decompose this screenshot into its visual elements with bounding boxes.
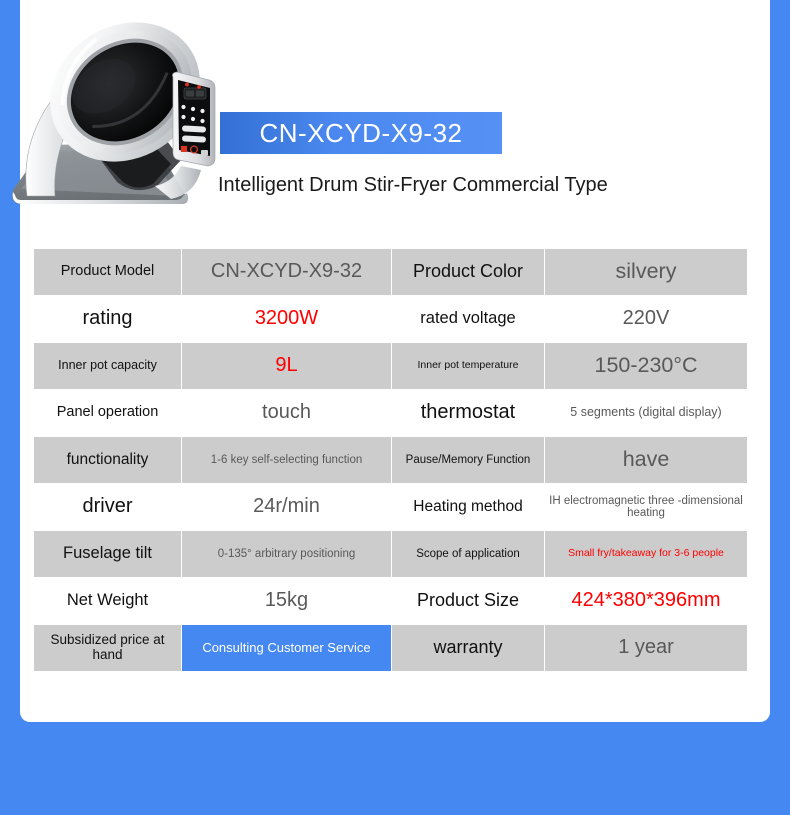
spec-label: Scope of application [392,531,545,578]
spec-value: 1-6 key self-selecting function [182,437,392,484]
spec-label: Fuselage tilt [34,531,182,578]
table-row: functionality 1-6 key self-selecting fun… [34,437,748,484]
product-spec-page: CN-XCYD-X9-32 Intelligent Drum Stir-Frye… [0,0,790,815]
spec-value: 24r/min [182,484,392,531]
spec-label: Net Weight [34,578,182,625]
spec-value: 3200W [182,296,392,343]
spec-value: have [545,437,748,484]
spec-label: Heating method [392,484,545,531]
model-badge: CN-XCYD-X9-32 [220,112,502,154]
indicator-light-2 [197,85,201,89]
spec-value: 9L [182,343,392,390]
spec-value: 0-135° arbitrary positioning [182,531,392,578]
product-photo [5,0,237,215]
spec-value: 15kg [182,578,392,625]
spec-value: silvery [545,249,748,296]
table-row: Inner pot capacity 9L Inner pot temperat… [34,343,748,390]
control-panel [173,72,216,166]
table-row: rating 3200W rated voltage 220V [34,296,748,343]
spec-value: Small fry/takeaway for 3-6 people [545,531,748,578]
spec-value: 5 segments (digital display) [545,390,748,437]
spec-label: functionality [34,437,182,484]
spec-label: Inner pot capacity [34,343,182,390]
spec-label: warranty [392,625,545,672]
specification-table: Product Model CN-XCYD-X9-32 Product Colo… [33,248,748,672]
table-row: Fuselage tilt 0-135° arbitrary positioni… [34,531,748,578]
spec-value: IH electromagnetic three -dimensional he… [545,484,748,531]
drum-stir-fryer-illustration [5,0,237,215]
table-row: Product Model CN-XCYD-X9-32 Product Colo… [34,249,748,296]
model-badge-text: CN-XCYD-X9-32 [260,118,463,149]
spec-label: Product Size [392,578,545,625]
spec-value: touch [182,390,392,437]
indicator-light-1 [185,83,189,87]
table-row: driver 24r/min Heating method IH electro… [34,484,748,531]
function-button-2 [182,135,206,142]
spec-label: rating [34,296,182,343]
spec-value: CN-XCYD-X9-32 [182,249,392,296]
spec-label: driver [34,484,182,531]
product-subtitle: Intelligent Drum Stir-Fryer Commercial T… [218,174,608,197]
function-button-1 [182,125,206,132]
table-row: Panel operation touch thermostat 5 segme… [34,390,748,437]
spec-label: Pause/Memory Function [392,437,545,484]
spec-label: rated voltage [392,296,545,343]
spec-value: 424*380*396mm [545,578,748,625]
table-row: Net Weight 15kg Product Size 424*380*396… [34,578,748,625]
spec-value: 220V [545,296,748,343]
spec-label: Product Model [34,249,182,296]
consulting-customer-service-button[interactable]: Consulting Customer Service [182,625,392,672]
spec-value: 150-230°C [545,343,748,390]
spec-value: 1 year [545,625,748,672]
spec-label: thermostat [392,390,545,437]
spec-label: Subsidized price at hand [34,625,182,672]
start-button [191,146,198,153]
spec-label: Product Color [392,249,545,296]
spec-label: Panel operation [34,390,182,437]
spec-label: Inner pot temperature [392,343,545,390]
power-button [181,146,187,152]
table-row: Subsidized price at hand Consulting Cust… [34,625,748,672]
